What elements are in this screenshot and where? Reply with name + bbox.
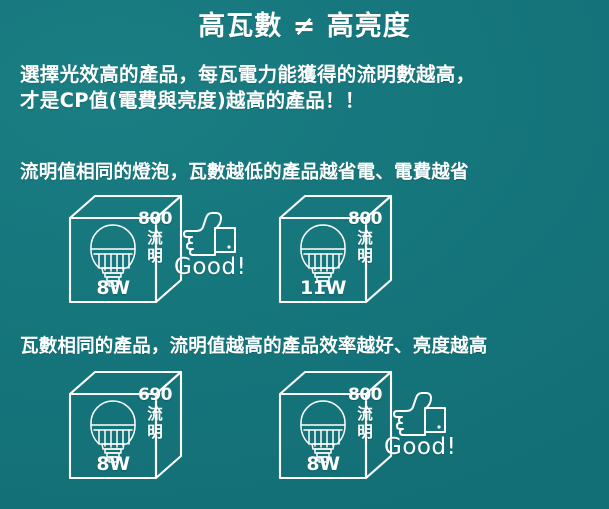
- lumen-label: 690 流 明: [138, 386, 172, 441]
- lumen-unit-char-2: 明: [138, 423, 172, 441]
- section-1-row: 800 流 明 8W Good!: [0, 192, 609, 310]
- good-label: Good!: [174, 254, 264, 280]
- page-title: 高瓦數 ≠ 高亮度: [0, 10, 609, 44]
- product-card-1: 800 流 明 8W: [66, 192, 191, 310]
- product-box-illustration: 800 流 明 11W: [276, 192, 401, 307]
- wattage-label: 11W: [294, 277, 352, 299]
- lumen-value: 800: [138, 210, 172, 229]
- lumen-unit-char-1: 流: [138, 405, 172, 423]
- wattage-label: 8W: [84, 453, 142, 475]
- product-box-illustration: 800 流 明 8W: [276, 368, 401, 483]
- wattage-label: 8W: [84, 277, 142, 299]
- intro-paragraph: 選擇光效高的產品，每瓦電力能獲得的流明數越高， 才是CP值(電費與亮度)越高的產…: [20, 62, 595, 114]
- product-card-2: 800 流 明 11W: [276, 192, 401, 310]
- lumen-value: 800: [348, 386, 382, 405]
- product-card-3: 690 流 明 8W: [66, 368, 191, 486]
- lumen-unit-char-2: 明: [348, 423, 382, 441]
- section-1-heading: 流明值相同的燈泡，瓦數越低的產品越省電、電費越省: [20, 158, 595, 184]
- thumbs-up-icon: [392, 390, 454, 436]
- infographic-poster: 高瓦數 ≠ 高亮度 選擇光效高的產品，每瓦電力能獲得的流明數越高， 才是CP值(…: [0, 0, 609, 509]
- lumen-value: 800: [348, 210, 382, 229]
- thumbs-up-icon: [182, 210, 244, 256]
- lumen-label: 800 流 明: [138, 210, 172, 265]
- lumen-label: 800 流 明: [348, 210, 382, 265]
- good-marker-1: Good!: [178, 210, 264, 280]
- intro-line-2: 才是CP值(電費與亮度)越高的產品！！: [20, 88, 595, 114]
- lumen-label: 800 流 明: [348, 386, 382, 441]
- section-2-heading: 瓦數相同的產品，流明值越高的產品效率越好、亮度越高: [20, 332, 595, 358]
- intro-line-1: 選擇光效高的產品，每瓦電力能獲得的流明數越高，: [20, 62, 595, 88]
- lumen-unit-char-1: 流: [138, 229, 172, 247]
- section-2-row: 690 流 明 8W: [0, 368, 609, 486]
- good-label: Good!: [384, 434, 474, 460]
- product-box-illustration: 800 流 明 8W: [66, 192, 191, 307]
- lumen-unit-char-2: 明: [348, 247, 382, 265]
- product-card-4: 800 流 明 8W: [276, 368, 401, 486]
- lumen-unit-char-2: 明: [138, 247, 172, 265]
- lumen-unit-char-1: 流: [348, 405, 382, 423]
- good-marker-2: Good!: [388, 390, 474, 460]
- product-box-illustration: 690 流 明 8W: [66, 368, 191, 483]
- lumen-value: 690: [138, 386, 172, 405]
- lumen-unit-char-1: 流: [348, 229, 382, 247]
- wattage-label: 8W: [294, 453, 352, 475]
